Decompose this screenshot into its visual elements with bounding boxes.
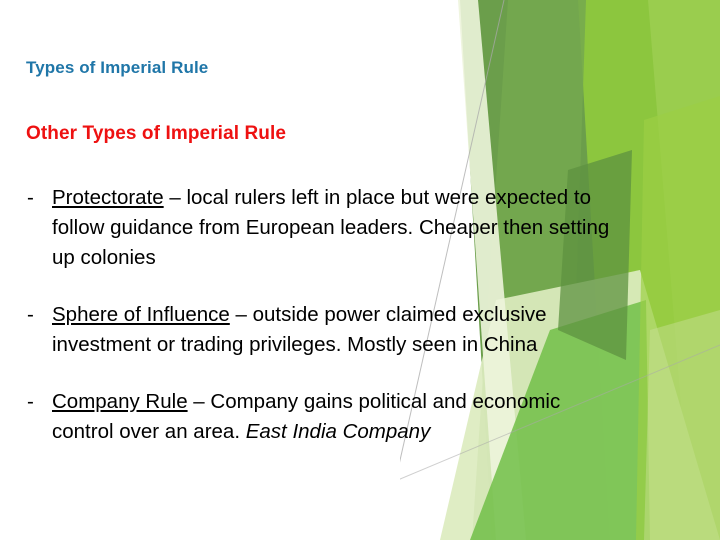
- bullet-marker: -: [27, 300, 34, 330]
- bullet-separator: –: [230, 303, 253, 326]
- bullet-marker: -: [27, 387, 34, 417]
- bullet-separator: –: [188, 390, 211, 413]
- bullet-term: Sphere of Influence: [52, 303, 230, 326]
- bullet-separator: –: [164, 186, 187, 209]
- slide-canvas: Types of Imperial Rule Other Types of Im…: [0, 0, 720, 540]
- bullet-list: -Protectorate – local rulers left in pla…: [22, 183, 622, 447]
- slide-subtitle: Other Types of Imperial Rule: [26, 123, 286, 145]
- bullet-term: Company Rule: [52, 390, 188, 413]
- page-title: Types of Imperial Rule: [26, 58, 208, 78]
- list-item: -Protectorate – local rulers left in pla…: [22, 183, 622, 273]
- list-item: -Company Rule – Company gains political …: [22, 387, 622, 447]
- bullet-emphasis: East India Company: [246, 420, 431, 443]
- bullet-term: Protectorate: [52, 186, 164, 209]
- bullet-marker: -: [27, 183, 34, 213]
- slide-text-layer: Types of Imperial Rule Other Types of Im…: [0, 0, 720, 540]
- list-item: -Sphere of Influence – outside power cla…: [22, 300, 622, 360]
